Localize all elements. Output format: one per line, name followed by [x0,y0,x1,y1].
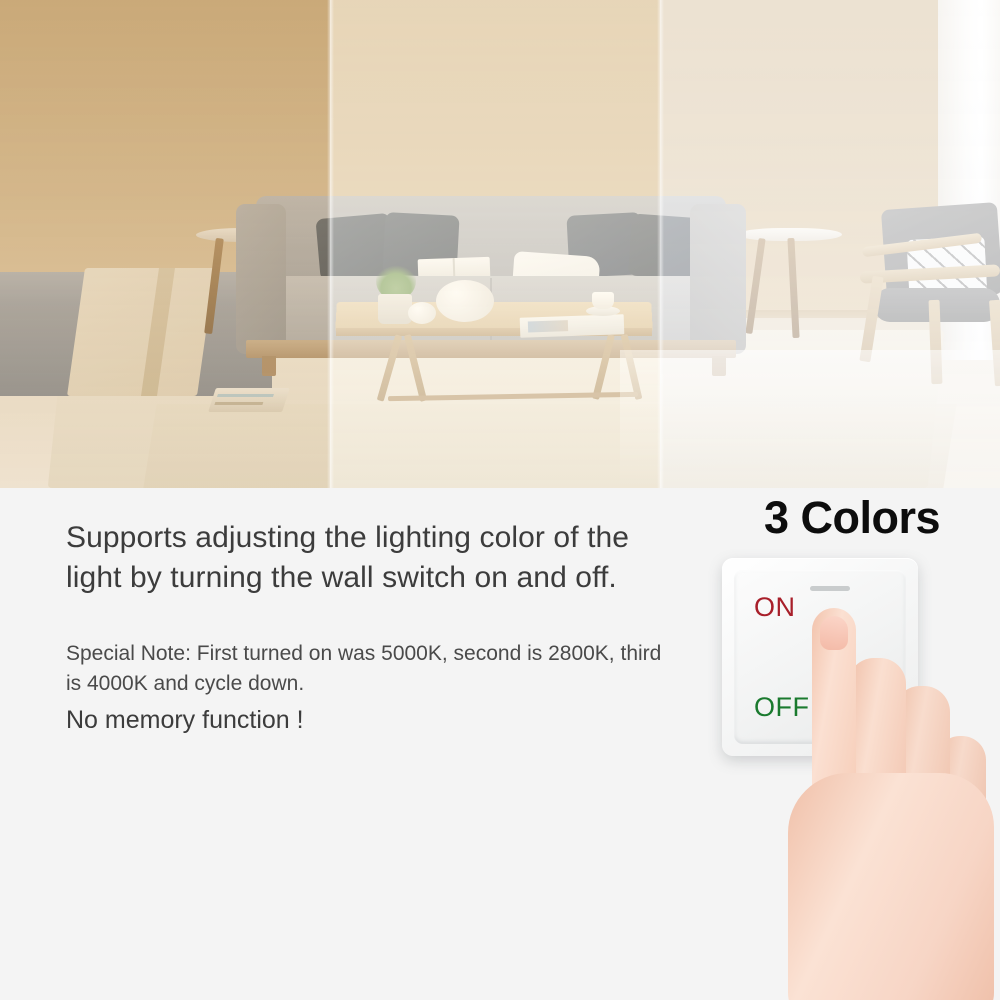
band-divider [657,0,664,488]
headline-text: Supports adjusting the lighting color of… [66,518,676,598]
sofa-arm-left [236,204,286,354]
ceramic-egg-large [436,280,494,322]
floor-sheen [620,350,1000,488]
fingernail [820,616,848,650]
palm [788,773,994,1000]
info-panel: Supports adjusting the lighting color of… [0,488,1000,1000]
three-colors-title: 3 Colors [722,492,982,544]
plant-pot [378,294,412,324]
product-feature-image: Supports adjusting the lighting color of… [0,0,1000,1000]
teacup [592,292,614,309]
no-memory-text: No memory function ! [66,706,304,735]
ceramic-egg-small [408,302,436,324]
special-note-text: Special Note: First turned on was 5000K,… [66,639,666,700]
ottoman-throw [67,268,215,396]
room-photo [0,0,1000,488]
band-divider [327,0,334,488]
magazine [520,314,625,338]
switch-indicator-slot [810,586,850,591]
book-stack [208,388,290,412]
pressing-hand [760,608,1000,1000]
sofa-arm-right [690,204,746,354]
sofa-foot [262,356,276,376]
